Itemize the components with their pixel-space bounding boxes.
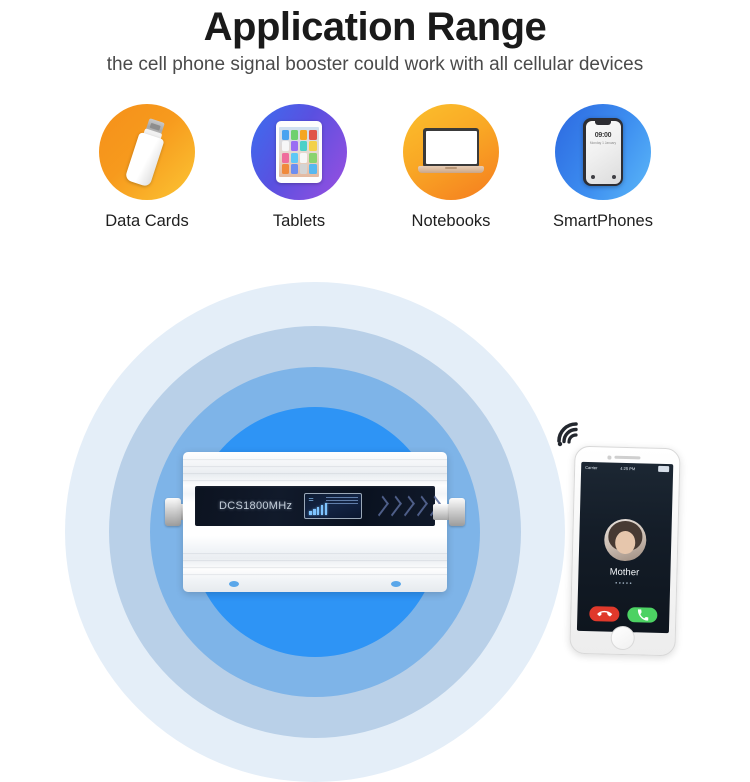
page-subtitle: the cell phone signal booster could work… xyxy=(0,48,750,76)
phone-status-bar: Carrier 4:25 PM xyxy=(581,464,673,472)
booster-model-label: DCS1800MHz xyxy=(219,500,292,512)
booster-lcd-display: ⚌ xyxy=(304,493,362,519)
device-item-tablets: Tablets xyxy=(245,104,353,231)
phone-hangup-icon xyxy=(597,606,613,622)
phone-answer-icon xyxy=(637,609,648,620)
phone-home-button[interactable] xyxy=(610,626,635,651)
device-label-smartphones: SmartPhones xyxy=(553,212,653,231)
booster-signal-arrows xyxy=(376,498,438,514)
lcd-text-lines xyxy=(326,497,358,506)
wifi-signal-icon xyxy=(549,414,591,448)
smartphone-shortcut-right xyxy=(612,175,616,179)
smartphone-notch xyxy=(595,121,611,125)
smartphone-screen: 09:00 Monday 1 January xyxy=(586,121,621,184)
antenna-connector-right xyxy=(433,496,463,528)
incoming-call-phone: Carrier 4:25 PM Mother ••••• xyxy=(569,446,680,657)
booster-screw-right xyxy=(391,581,401,587)
laptop-base xyxy=(418,166,484,173)
tablet-icon xyxy=(276,121,322,183)
call-action-buttons xyxy=(577,606,669,623)
heatsink-fins-top xyxy=(183,456,447,484)
status-carrier: Carrier xyxy=(585,464,597,469)
device-item-smartphones: 09:00 Monday 1 January SmartPhones xyxy=(549,104,657,231)
tablet-screen xyxy=(279,127,319,177)
smartphone-icon: 09:00 Monday 1 January xyxy=(583,118,623,186)
decline-call-button[interactable] xyxy=(589,606,619,622)
signal-booster-device: DCS1800MHz ⚌ xyxy=(183,452,447,592)
caller-name: Mother xyxy=(578,566,670,579)
laptop-screen xyxy=(426,131,477,164)
caller-status-dots: ••••• xyxy=(578,580,670,588)
device-label-tablets: Tablets xyxy=(273,212,325,231)
phone-front-camera xyxy=(607,456,611,460)
phone-earpiece xyxy=(614,456,640,460)
heatsink-fins-bottom xyxy=(183,550,447,578)
booster-housing: DCS1800MHz ⚌ xyxy=(183,452,447,592)
status-battery-icon xyxy=(658,466,669,472)
notebooks-circle xyxy=(403,104,499,200)
device-label-notebooks: Notebooks xyxy=(412,212,491,231)
lcd-signal-bars xyxy=(309,503,327,515)
usb-body xyxy=(124,132,164,188)
laptop-icon xyxy=(418,128,484,176)
usb-data-card-icon xyxy=(121,115,174,188)
page-title: Application Range xyxy=(0,0,750,48)
smartphone-shortcut-left xyxy=(591,175,595,179)
smartphone-shortcuts xyxy=(591,175,616,179)
avatar-face xyxy=(615,531,636,555)
caller-avatar xyxy=(604,518,647,561)
laptop-lid xyxy=(423,128,479,166)
booster-front-panel: DCS1800MHz ⚌ xyxy=(195,486,435,526)
device-item-notebooks: Notebooks xyxy=(397,104,505,231)
phone-screen: Carrier 4:25 PM Mother ••••• xyxy=(577,462,673,633)
tablets-circle xyxy=(251,104,347,200)
device-label-data-cards: Data Cards xyxy=(105,212,188,231)
accept-call-button[interactable] xyxy=(627,607,657,623)
smartphone-time: 09:00 xyxy=(586,132,621,139)
connector-nut-right xyxy=(449,498,465,526)
smartphone-date: Monday 1 January xyxy=(586,141,621,145)
data-cards-circle xyxy=(99,104,195,200)
booster-screw-left xyxy=(229,581,239,587)
page-header: Application Range the cell phone signal … xyxy=(0,0,750,76)
status-time: 4:25 PM xyxy=(620,465,635,470)
supported-devices-row: Data Cards Tablets Noteb xyxy=(0,104,750,231)
connector-nut-left xyxy=(165,498,181,526)
wifi-origin-dot xyxy=(558,442,562,446)
smartphones-circle: 09:00 Monday 1 January xyxy=(555,104,651,200)
device-item-data-cards: Data Cards xyxy=(93,104,201,231)
